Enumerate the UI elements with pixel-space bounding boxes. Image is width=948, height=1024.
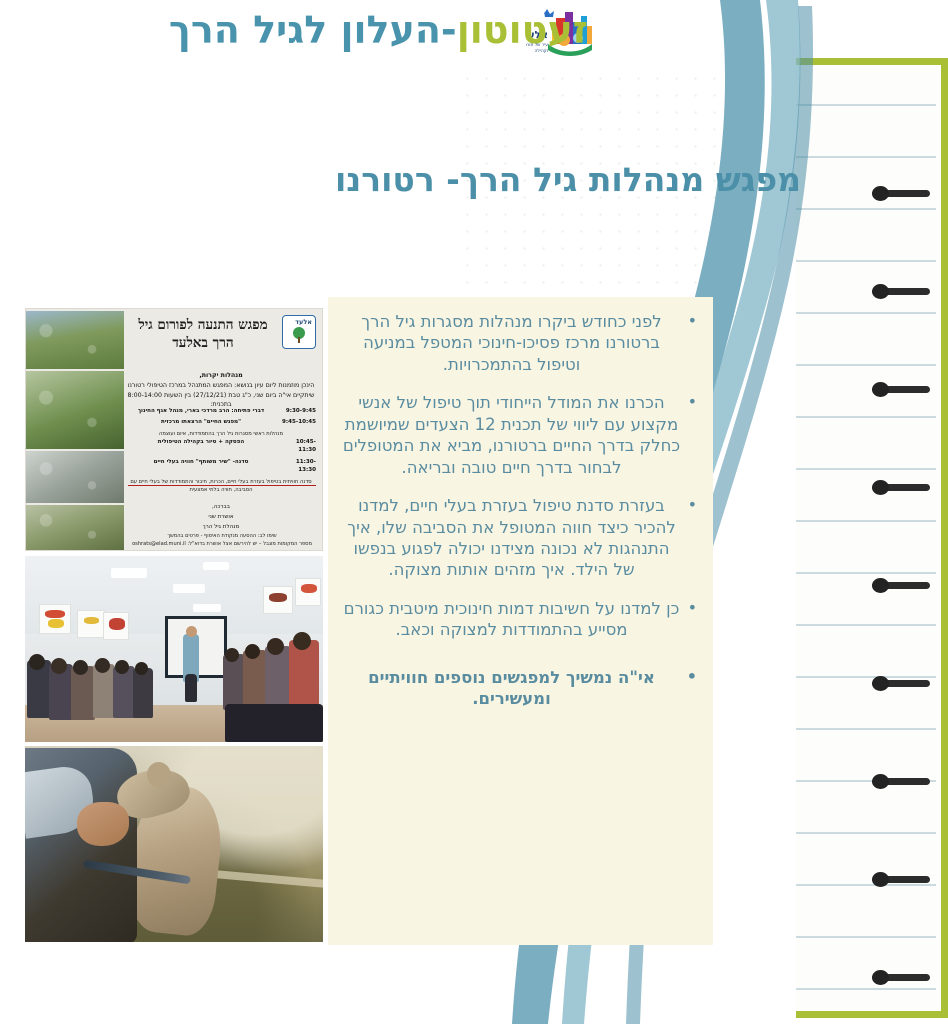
bullet-item-4: כן למדנו על חשיבות דמות חינוכית מיטבית כ… [338,598,701,641]
schedule-entry-2: 9:45-10:45"מפגש החיים" הרצאתו מרכזיתמנהל… [126,418,316,438]
signature-line-1: בברכה, [126,502,316,512]
page-title: מפגש מנהלות גיל הרך- רטורנו [258,160,878,199]
schedule-note: מנהלות ראשי מסגרות גיל הרך בהתמודדות, אי… [126,430,316,438]
notebook-ring [872,774,930,789]
notebook-ring [872,578,930,593]
schedule-entry-4: 11:30-13:30סדנה- "שיר משותף" חוויה בעלי … [126,458,316,494]
dot-texture [458,70,738,330]
schedule-description: סדנה- "שיר משותף" חוויה בעלי חיים [126,458,280,466]
schedule-time: 9:45-10:45 [280,418,316,426]
notebook-ring [872,676,930,691]
brand-tagline-blue: -העלון לגיל הרך [169,8,457,52]
schedule-entry-3: 10:45-11:30הפסקה + סיור בקהילה הטיפולית [126,438,316,455]
flyer-subtitle-lines: הינכן מוזמנות ליום עיון בנושא: המפגש המת… [126,381,316,410]
flyer-photo-4 [25,505,124,550]
schedule-title: דברי פתיחה: הרב מרדכי בארי, מנהל אגף החי… [138,408,264,414]
flyer-photo-strip [25,309,124,551]
slide-canvas: אלעד עיר של תורה וקהילה זעטוטון-העלון לג… [0,0,948,1024]
event-flyer: אלעד מפגש התנעה לפורום גיל הרך באלעד מנה… [25,308,323,551]
notebook-ring [872,186,930,201]
schedule-time: 9:30-9:45 [280,407,316,415]
flyer-photo-3 [25,451,124,503]
flyer-photo-2 [25,371,124,449]
notebook-rings [870,58,930,1018]
bullet-item-5: אי"ה נמשיך למפגשים נוספים חוויתיים ומעשי… [338,667,701,710]
notebook-ring [872,480,930,495]
flyer-title: מפגש התנעה לפורום גיל הרך באלעד [130,317,276,353]
flyer-subtitle-line-1: הינכן מוזמנות ליום עיון בנושא: המפגש המת… [126,381,316,391]
schedule-title: "מפגש החיים" הרצאתו מרכזית [161,419,241,425]
tree-icon [289,325,309,345]
flyer-photo-1 [25,311,124,369]
flyer-signature: בברכה,אושרת שנימנהלת גיל הרך [126,502,316,532]
photo-lecture-hall [25,556,323,742]
flyer-footnote: שימו לב: ההסעה מנקודת האיסוף - פרטים בהמ… [126,532,318,549]
schedule-time: 11:30-13:30 [280,458,316,475]
bullet-list: לפני כחודש ביקרו מנהלות מסגרות גיל הרך ב… [338,311,701,710]
photo-detection-rat [25,746,323,942]
flyer-subtitle-line-2: שיתקיים אי"ה ביום שני, כ"ג טבת (27/12/21… [126,391,316,401]
notebook-ring [872,872,930,887]
bullet-item-3: בעזרת סדנת טיפול בעזרת בעלי חיים, למדנו … [338,495,701,581]
flyer-subtitle: מנהלות יקרות, הינכן מוזמנות ליום עיון בנ… [126,371,316,410]
schedule-title: סדנה- "שיר משותף" חוויה בעלי חיים [154,459,249,465]
flyer-divider [128,485,316,486]
schedule-description: הפסקה + סיור בקהילה הטיפולית [126,438,280,446]
notebook-ring [872,970,930,985]
flyer-greeting: מנהלות יקרות, [126,371,316,381]
bullet-item-2: הכרנו את המודל הייחודי תוך טיפול של אנשי… [338,392,701,478]
elad-crest-icon: אלעד [282,315,316,349]
brand-name-green: זעטוטון [457,8,588,52]
schedule-description: דברי פתיחה: הרב מרדכי בארי, מנהל אגף החי… [126,407,280,415]
footnote-line-1: שימו לב: ההסעה מנקודת האיסוף - פרטים בהמ… [126,532,318,541]
bullet-item-1: לפני כחודש ביקרו מנהלות מסגרות גיל הרך ב… [338,311,701,375]
content-panel: לפני כחודש ביקרו מנהלות מסגרות גיל הרך ב… [328,297,713,945]
footnote-line-2: מספר המקומות מוגבל – יש להירשם אצל אושרת… [126,540,318,549]
notebook-ring [872,382,930,397]
newsletter-brand: זעטוטון-העלון לגיל הרך [169,8,588,52]
schedule-description: "מפגש החיים" הרצאתו מרכזית [126,418,280,426]
signature-line-3: מנהלת גיל הרך [126,522,316,532]
page-header: אלעד עיר של תורה וקהילה זעטוטון-העלון לג… [0,0,948,70]
schedule-time: 10:45-11:30 [280,438,316,455]
schedule-entry-1: 9:30-9:45דברי פתיחה: הרב מרדכי בארי, מנה… [126,407,316,415]
schedule-title: הפסקה + סיור בקהילה הטיפולית [158,439,245,445]
signature-line-2: אושרת שני [126,512,316,522]
flyer-schedule: 9:30-9:45דברי פתיחה: הרב מרדכי בארי, מנה… [126,407,316,494]
flyer-body: אלעד מפגש התנעה לפורום גיל הרך באלעד מנה… [122,309,322,551]
notebook-ring [872,284,930,299]
